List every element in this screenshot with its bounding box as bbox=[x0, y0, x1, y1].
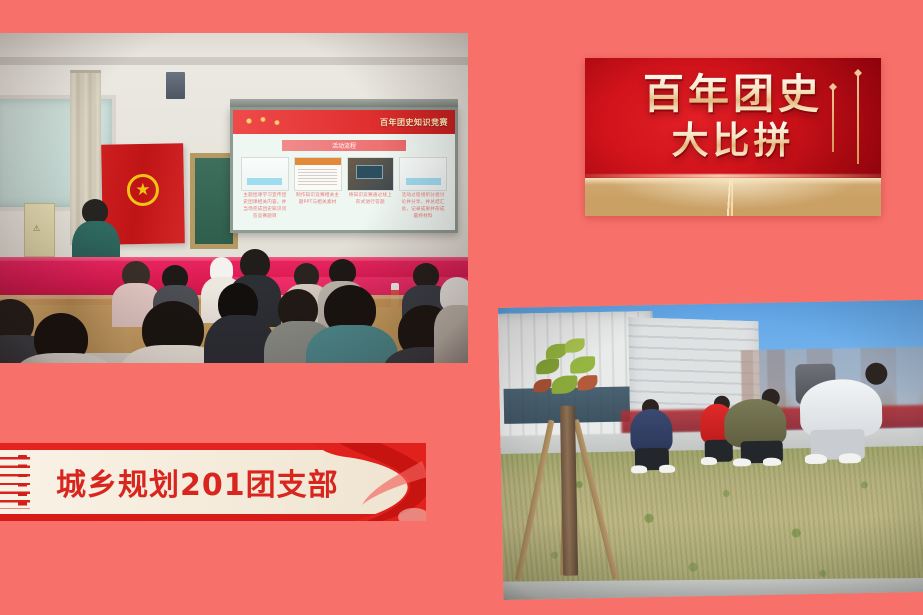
slide-sparkle-icon bbox=[245, 117, 285, 125]
slide-card: 制作知识竞赛相关主题PPT与相关素材 bbox=[294, 157, 342, 224]
slide-card-thumb bbox=[347, 157, 395, 191]
title-line-1: 百年团史 bbox=[643, 72, 823, 118]
wooden-perspective-floor bbox=[585, 178, 881, 216]
red-silk-swirl-icon bbox=[302, 443, 426, 521]
slide-card-thumb bbox=[241, 157, 289, 191]
slide-header: 百年团史知识竞赛 bbox=[233, 110, 455, 134]
title-text-block: 百年团史 大比拼 bbox=[585, 72, 881, 161]
slide-card-text: 将知识竞赛通过线上形式进行答题 bbox=[347, 193, 395, 207]
ceiling-rail bbox=[0, 33, 468, 59]
slide-card-thumb bbox=[399, 157, 447, 191]
classroom-quiz-photo: ★ 百年团史知识竞赛 活动流程 主题团课学习宣传团史团课相关内容，并当场完成团史… bbox=[0, 33, 468, 363]
tree-planting-photo bbox=[498, 300, 923, 600]
slide-card-text: 主题团课学习宣传团史团课相关内容，并当场完成团史知识问答竞赛题目 bbox=[241, 193, 289, 221]
ribbon-binding-column bbox=[18, 455, 27, 511]
title-banner: 百年团史 大比拼 bbox=[585, 58, 881, 216]
class-name-ribbon: 城乡规划201团支部 bbox=[0, 443, 426, 521]
class-name-label: 城乡规划201团支部 bbox=[56, 443, 339, 521]
title-line-2: 大比拼 bbox=[672, 120, 795, 161]
ceiling-shadow bbox=[0, 59, 468, 65]
poster-canvas: ★ 百年团史知识竞赛 活动流程 主题团课学习宣传团史团课相关内容，并当场完成团史… bbox=[0, 0, 923, 615]
speaker-box-icon bbox=[166, 72, 185, 99]
slide-card-thumb bbox=[294, 157, 342, 191]
slide-header-title: 百年团史知识竞赛 bbox=[380, 117, 448, 128]
slide-card-text: 活动过程组织分组讨论并分享，并总结汇总，记录成果并形成最终材料 bbox=[399, 193, 447, 221]
photo-vignette bbox=[498, 300, 923, 600]
slide-card: 主题团课学习宣传团史团课相关内容，并当场完成团史知识问答竞赛题目 bbox=[241, 157, 289, 224]
slide-card: 将知识竞赛通过线上形式进行答题 bbox=[347, 157, 395, 224]
youth-league-star-icon: ★ bbox=[127, 174, 160, 207]
electrical-box-icon bbox=[24, 203, 55, 257]
slide-card-list: 主题团课学习宣传团史团课相关内容，并当场完成团史知识问答竞赛题目 制作知识竞赛相… bbox=[241, 157, 447, 224]
slide-card-text: 制作知识竞赛相关主题PPT与相关素材 bbox=[294, 193, 342, 207]
slide-subtitle: 活动流程 bbox=[282, 140, 406, 151]
floor-sheen bbox=[585, 178, 881, 216]
audience-body bbox=[306, 325, 398, 363]
projector-screen: 百年团史知识竞赛 活动流程 主题团课学习宣传团史团课相关内容，并当场完成团史知识… bbox=[230, 107, 458, 233]
slide-card: 活动过程组织分组讨论并分享，并总结汇总，记录成果并形成最终材料 bbox=[399, 157, 447, 224]
audience-body bbox=[434, 305, 468, 363]
